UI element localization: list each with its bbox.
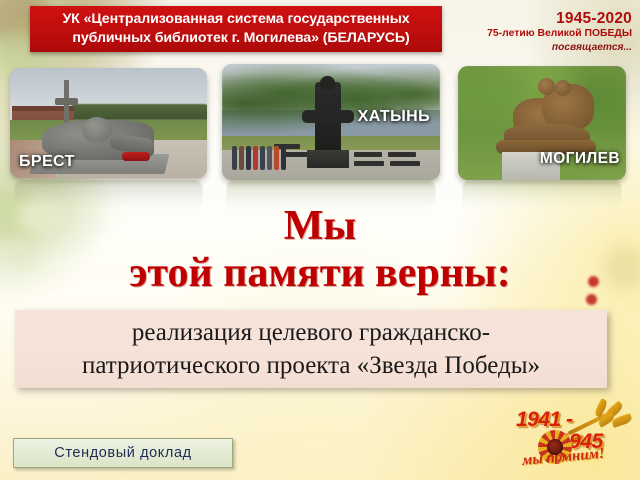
project-description-line-1: реализация целевого гражданско- (132, 316, 490, 349)
photo-caption-khatyn: ХАТЫНЬ (358, 108, 430, 126)
photo-memorial-slab (354, 152, 382, 157)
photo-statue-head (320, 76, 335, 90)
anniversary-subtitle: 75-летию Великой ПОБЕДЫ (442, 27, 632, 41)
photo-sculpture-head-left (538, 78, 555, 95)
photo-memorial-slab (388, 152, 416, 157)
project-description-box: реализация целевого гражданско- патриоти… (15, 310, 607, 388)
presentation-slide: УК «Централизованная система государстве… (0, 0, 640, 480)
anniversary-dedication: посвящается... (442, 41, 632, 55)
photo-mogilev: МОГИЛЕВ (458, 66, 626, 180)
photo-statue-pedestal (307, 150, 349, 168)
banner-line-2: публичных библиотек г. Могилева» (БЕЛАРУ… (62, 29, 409, 48)
photo-memorial-slab (390, 161, 420, 166)
emblem-year-from: 1941 - (516, 408, 573, 432)
photo-caption-brest: БРЕСТ (19, 153, 75, 171)
photo-brest: БРЕСТ (10, 68, 207, 178)
victory-emblem: 1941 - 1945 мы помним! (512, 404, 636, 476)
title-line-1: Мы (0, 204, 640, 248)
photo-monument-head (82, 117, 112, 142)
anniversary-header: 1945-2020 75-летию Великой ПОБЕДЫ посвящ… (442, 10, 632, 55)
photo-statue-arms (302, 110, 354, 123)
project-description-line-2: патриотического проекта «Звезда Победы» (82, 349, 540, 382)
photo-wreath (122, 152, 150, 161)
page-title: Мы этой памяти верны: (0, 204, 640, 298)
photo-khatyn: ХАТЫНЬ (222, 64, 440, 180)
banner-line-1: УК «Централизованная система государстве… (62, 10, 409, 29)
photo-bayonet-guard (55, 98, 78, 105)
photo-sculpture-head-right (555, 80, 571, 96)
photo-memorial-slab (354, 161, 384, 166)
poster-report-button-label: Стендовый доклад (54, 445, 191, 461)
title-line-2: этой памяти верны: (0, 248, 640, 298)
organization-banner: УК «Централизованная система государстве… (30, 6, 442, 52)
photo-caption-mogilev: МОГИЛЕВ (540, 150, 620, 168)
photo-visitor-group (232, 138, 292, 170)
poster-report-button[interactable]: Стендовый доклад (13, 438, 233, 468)
anniversary-years: 1945-2020 (442, 10, 632, 27)
